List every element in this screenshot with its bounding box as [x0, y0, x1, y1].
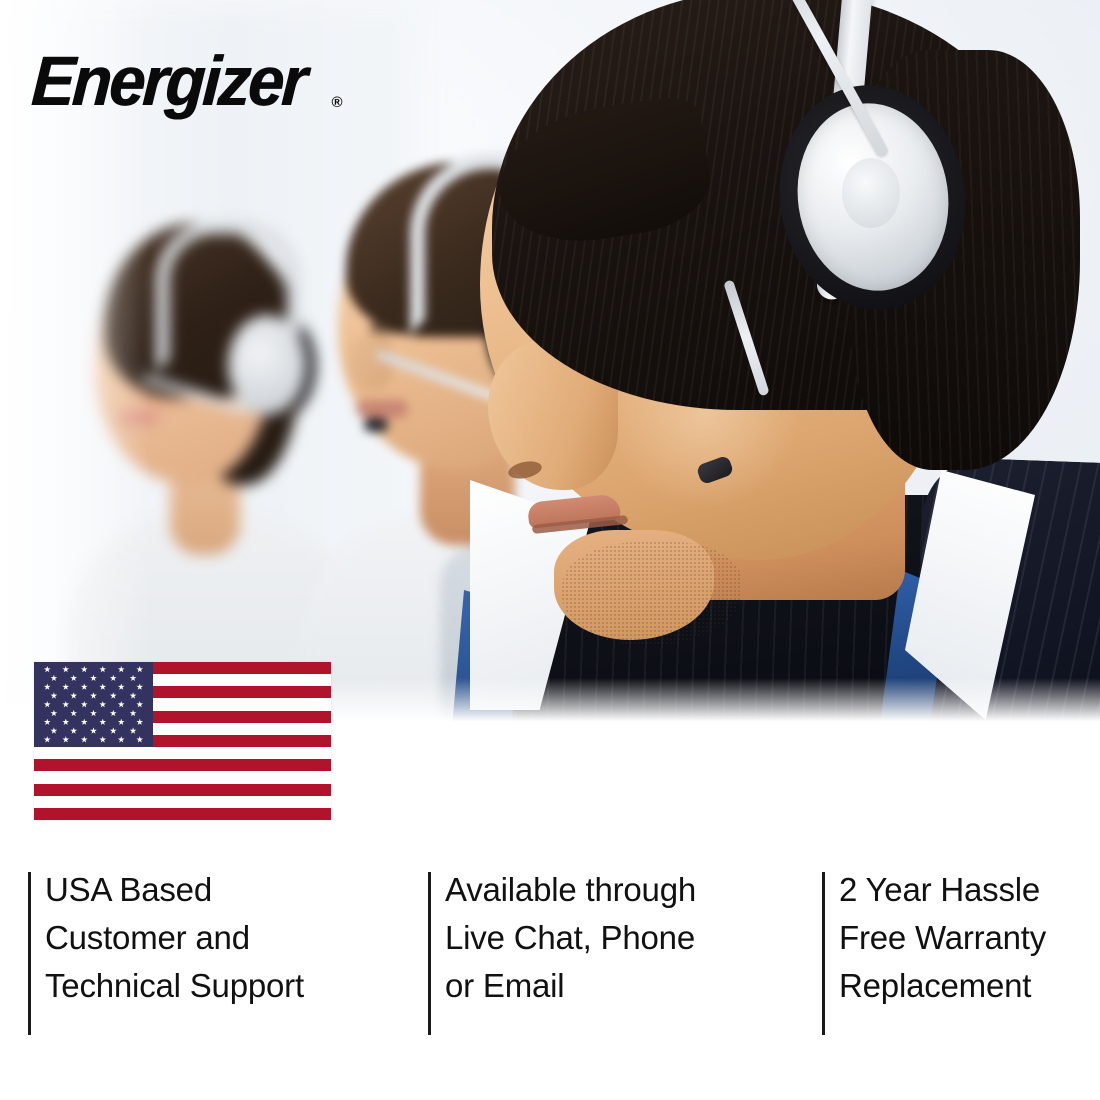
flag-star — [110, 710, 117, 717]
flag-star — [130, 675, 137, 682]
flag-star — [136, 666, 143, 673]
flag-star — [118, 683, 125, 690]
flag-star — [99, 701, 106, 708]
flag-star — [99, 666, 106, 673]
flag-star — [81, 736, 88, 743]
flag-star — [44, 701, 51, 708]
flag-star — [118, 701, 125, 708]
flag-star — [118, 719, 125, 726]
flag-stripe — [34, 808, 331, 820]
flag-star — [130, 727, 137, 734]
flag-star — [44, 683, 51, 690]
headset-earcup-center — [842, 158, 900, 228]
feature-text: Available through Live Chat, Phone or Em… — [445, 866, 696, 1010]
flag-star-row — [36, 735, 151, 744]
flag-star — [110, 675, 117, 682]
flag-star — [136, 736, 143, 743]
flag-star — [99, 719, 106, 726]
flag-star — [50, 727, 57, 734]
flag-star — [130, 692, 137, 699]
energizer-logo: Energizer ® — [34, 46, 343, 116]
mid-man-lips — [356, 400, 408, 418]
flag-star — [118, 736, 125, 743]
feature-text: USA Based Customer and Technical Support — [45, 866, 304, 1010]
flag-star — [62, 666, 69, 673]
woman-headset-headband — [156, 221, 300, 372]
infographic-canvas: Energizer ® — [0, 0, 1100, 1100]
flag-star — [62, 719, 69, 726]
united-states-flag-icon — [34, 662, 331, 820]
flag-star — [62, 736, 69, 743]
flag-star — [99, 683, 106, 690]
mid-man-microphone-tip — [364, 418, 388, 432]
feature-usa-based-support: USA Based Customer and Technical Support — [28, 866, 428, 1041]
flag-star — [44, 666, 51, 673]
flag-star — [136, 701, 143, 708]
flag-stripe — [34, 759, 331, 771]
flag-star — [130, 710, 137, 717]
flag-star — [50, 692, 57, 699]
flag-stripe — [34, 784, 331, 796]
flag-star — [99, 736, 106, 743]
flag-star — [70, 727, 77, 734]
flag-canton — [34, 662, 153, 747]
flag-star — [81, 683, 88, 690]
flag-star — [136, 719, 143, 726]
flag-star — [90, 692, 97, 699]
feature-columns: USA Based Customer and Technical Support… — [0, 866, 1100, 1041]
flag-star — [118, 666, 125, 673]
flag-star-row — [36, 726, 151, 735]
flag-stripe — [34, 747, 331, 759]
registered-trademark-icon: ® — [332, 94, 343, 111]
flag-star — [44, 719, 51, 726]
flag-star-row — [36, 683, 151, 692]
flag-star — [90, 675, 97, 682]
flag-star — [81, 666, 88, 673]
flag-stripe — [34, 771, 331, 783]
flag-star — [70, 675, 77, 682]
flag-star-row — [36, 691, 151, 700]
energizer-logo-wordmark: Energizer — [29, 46, 306, 116]
flag-stripe — [34, 796, 331, 808]
flag-star-row — [36, 718, 151, 727]
flag-star-row — [36, 665, 151, 674]
flag-star — [81, 701, 88, 708]
feature-text: 2 Year Hassle Free Warranty Replacement — [839, 866, 1046, 1010]
flag-star — [62, 701, 69, 708]
flag-star — [50, 710, 57, 717]
flag-star — [90, 710, 97, 717]
flag-star — [110, 727, 117, 734]
flag-star — [110, 692, 117, 699]
feature-warranty: 2 Year Hassle Free Warranty Replacement — [822, 866, 1082, 1041]
flag-star — [81, 719, 88, 726]
flag-star — [50, 675, 57, 682]
foreground-agent-man — [450, 0, 1100, 748]
flag-star — [62, 683, 69, 690]
flag-star-row — [36, 674, 151, 683]
flag-star — [44, 736, 51, 743]
flag-star — [90, 727, 97, 734]
flag-star-row — [36, 709, 151, 718]
feature-contact-channels: Available through Live Chat, Phone or Em… — [428, 866, 822, 1041]
flag-star — [70, 710, 77, 717]
flag-star-row — [36, 700, 151, 709]
flag-star — [70, 692, 77, 699]
flag-star — [136, 683, 143, 690]
